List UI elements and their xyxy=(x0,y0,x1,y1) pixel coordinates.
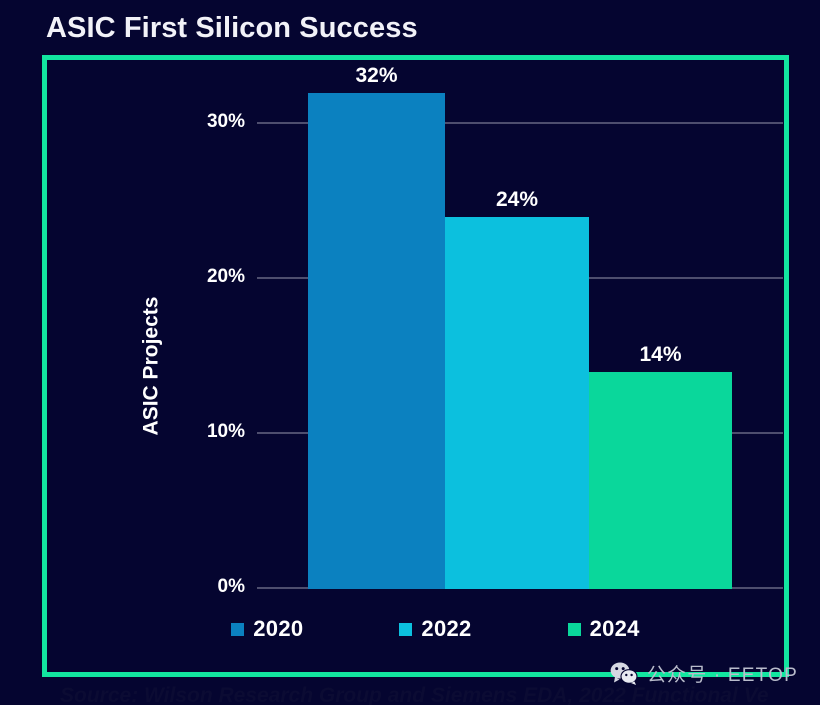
legend-label-2020: 2020 xyxy=(253,616,303,642)
y-axis-title: ASIC Projects xyxy=(139,297,163,436)
legend-item-2024[interactable]: 2024 xyxy=(568,616,640,642)
y-tick-label-1: 10% xyxy=(207,421,245,443)
gridline-row-2: 20% xyxy=(257,277,783,279)
bar-value-2024: 14% xyxy=(589,343,732,367)
gridline xyxy=(257,277,783,279)
legend-label-2022: 2022 xyxy=(421,616,471,642)
y-tick-label-2: 20% xyxy=(207,266,245,288)
gridline xyxy=(257,587,783,589)
page-title: ASIC First Silicon Success xyxy=(46,12,418,45)
legend-swatch-2024 xyxy=(568,623,581,636)
legend-label-2024: 2024 xyxy=(590,616,640,642)
watermark: 公众号 · EETOP xyxy=(610,660,798,687)
watermark-text: 公众号 · EETOP xyxy=(647,660,798,687)
gridline xyxy=(257,432,783,434)
bar-value-2022: 24% xyxy=(445,188,589,212)
bar-2020: 32% xyxy=(308,93,445,589)
bar-value-2020: 32% xyxy=(308,64,445,88)
gridline xyxy=(257,122,783,124)
y-tick-label-3: 30% xyxy=(207,111,245,133)
chart-screenshot: ASIC First Silicon Success ASIC Projects… xyxy=(0,0,820,705)
legend: 2020 2022 2024 xyxy=(47,616,784,642)
gridline-row-0: 0% xyxy=(257,587,783,589)
chart-panel: ASIC Projects 0% 10% 20% 30% 32% xyxy=(42,55,789,677)
legend-swatch-2020 xyxy=(231,623,244,636)
source-note: Source: Wilson Research Group and Siemen… xyxy=(60,684,769,705)
y-tick-label-0: 0% xyxy=(218,576,245,598)
wechat-icon xyxy=(610,662,638,685)
gridline-row-1: 10% xyxy=(257,432,783,434)
plot-area: ASIC Projects 0% 10% 20% 30% 32% xyxy=(47,60,784,672)
gridline-row-3: 30% xyxy=(257,122,783,124)
bar-2024: 14% xyxy=(589,372,732,589)
bar-2022: 24% xyxy=(445,217,589,589)
legend-item-2020[interactable]: 2020 xyxy=(231,616,303,642)
legend-swatch-2022 xyxy=(399,623,412,636)
legend-item-2022[interactable]: 2022 xyxy=(399,616,471,642)
